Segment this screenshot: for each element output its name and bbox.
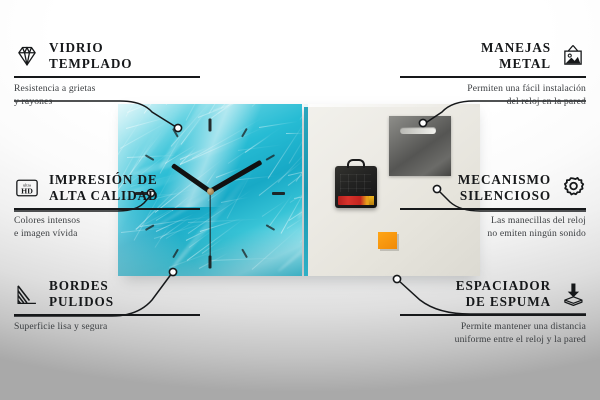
feature-description: Colores intensos e imagen vívida	[14, 214, 200, 242]
feature-header: MECANISMO SILENCIOSO	[400, 172, 586, 203]
feature-desc-line1: Resistencia a grietas	[14, 82, 200, 96]
feature-title: MANEJAS METAL	[481, 40, 551, 71]
feature-desc-line1: Permiten una fácil instalación	[400, 82, 586, 96]
mechanism-hanging-loop	[347, 159, 365, 168]
feature-espaciador-de-espuma: ESPACIADOR DE ESPUMA Permite mantener un…	[400, 278, 586, 347]
polished-edges-icon	[14, 281, 40, 307]
clock-tick	[266, 154, 276, 161]
feature-divider	[14, 208, 200, 209]
feather-strand	[262, 200, 286, 217]
clock-second-hand	[209, 192, 210, 261]
feather-strand	[198, 104, 286, 118]
feature-desc-line2: e imagen vívida	[14, 227, 200, 241]
feature-description: Permite mantener una distancia uniforme …	[400, 320, 586, 348]
feature-header: VIDRIO TEMPLADO	[14, 40, 200, 71]
feature-manejas-metal: MANEJAS METAL Permiten una fácil instala…	[400, 40, 586, 109]
feature-title: MECANISMO SILENCIOSO	[458, 172, 551, 203]
clock-mechanism-box	[335, 166, 377, 208]
feature-title: VIDRIO TEMPLADO	[49, 40, 132, 71]
feature-desc-line2: uniforme entre el reloj y la pared	[400, 333, 586, 347]
feature-desc-line1: Las manecillas del reloj	[400, 214, 586, 228]
feature-description: Superficie lisa y segura	[14, 320, 200, 334]
feature-divider	[14, 314, 200, 315]
feature-desc-line2: y rayones	[14, 95, 200, 109]
feature-divider	[14, 76, 200, 77]
feature-title: BORDES PULIDOS	[49, 278, 114, 309]
feature-title-line2: DE ESPUMA	[456, 294, 551, 310]
feature-divider	[400, 208, 586, 209]
clock-tick	[172, 127, 179, 137]
feature-vidrio-templado: VIDRIO TEMPLADO Resistencia a grietas y …	[14, 40, 200, 109]
feature-description: Resistencia a grietas y rayones	[14, 82, 200, 110]
feature-title: IMPRESIÓN DE ALTA CALIDAD	[49, 172, 158, 203]
feature-title-line1: IMPRESIÓN DE	[49, 172, 158, 188]
infographic-canvas: VIDRIO TEMPLADO Resistencia a grietas y …	[0, 0, 600, 400]
feather-strand	[252, 104, 280, 107]
feature-impresion-alta-calidad: ultra HD IMPRESIÓN DE ALTA CALIDAD Color…	[14, 172, 200, 241]
feature-title-line1: VIDRIO	[49, 40, 132, 56]
panel-turquoise-edge	[304, 104, 308, 276]
gear-icon	[560, 175, 586, 201]
feature-title-line1: MECANISMO	[458, 172, 551, 188]
clock-center-cap	[207, 188, 214, 195]
feature-description: Las manecillas del reloj no emiten ningú…	[400, 214, 586, 242]
feature-title-line2: METAL	[481, 56, 551, 72]
feature-title-line1: ESPACIADOR	[456, 278, 551, 294]
feature-header: BORDES PULIDOS	[14, 278, 200, 309]
ultra-hd-icon: ultra HD	[14, 175, 40, 201]
feather-strand	[299, 104, 302, 120]
feature-desc-line1: Permite mantener una distancia	[400, 320, 586, 334]
feature-title-line2: ALTA CALIDAD	[49, 188, 158, 204]
feature-divider	[400, 314, 586, 315]
foam-spacer-arrow-icon	[560, 281, 586, 307]
clock-tick	[209, 118, 212, 131]
diamond-icon	[14, 43, 40, 69]
clock-tick	[272, 192, 285, 195]
feature-title-line2: SILENCIOSO	[458, 188, 551, 204]
picture-frame-hanger-icon	[560, 43, 586, 69]
feature-mecanismo-silencioso: MECANISMO SILENCIOSO Las manecillas del …	[400, 172, 586, 241]
foam-spacer-block	[378, 232, 397, 249]
feature-title-line1: BORDES	[49, 278, 114, 294]
mechanism-surface-detail	[340, 174, 371, 192]
hanger-slot	[400, 127, 436, 134]
ultra-hd-icon-big-label: HD	[21, 186, 33, 195]
feature-description: Permiten una fácil instalación del reloj…	[400, 82, 586, 110]
metal-hanger-plate	[389, 116, 451, 176]
feature-title-line1: MANEJAS	[481, 40, 551, 56]
battery-terminal	[369, 196, 374, 205]
feature-divider	[400, 76, 586, 77]
feature-desc-line2: no emiten ningún sonido	[400, 227, 586, 241]
feature-desc-line1: Colores intensos	[14, 214, 200, 228]
feature-title-line2: PULIDOS	[49, 294, 114, 310]
feature-title-line2: TEMPLADO	[49, 56, 132, 72]
feature-desc-line2: del reloj en la pared	[400, 95, 586, 109]
feature-header: MANEJAS METAL	[400, 40, 586, 71]
feature-desc-line1: Superficie lisa y segura	[14, 320, 200, 334]
feature-header: ESPACIADOR DE ESPUMA	[400, 278, 586, 309]
feature-bordes-pulidos: BORDES PULIDOS Superficie lisa y segura	[14, 278, 200, 333]
feature-title: ESPACIADOR DE ESPUMA	[456, 278, 551, 309]
feather-strand	[286, 133, 302, 134]
feature-header: ultra HD IMPRESIÓN DE ALTA CALIDAD	[14, 172, 200, 203]
